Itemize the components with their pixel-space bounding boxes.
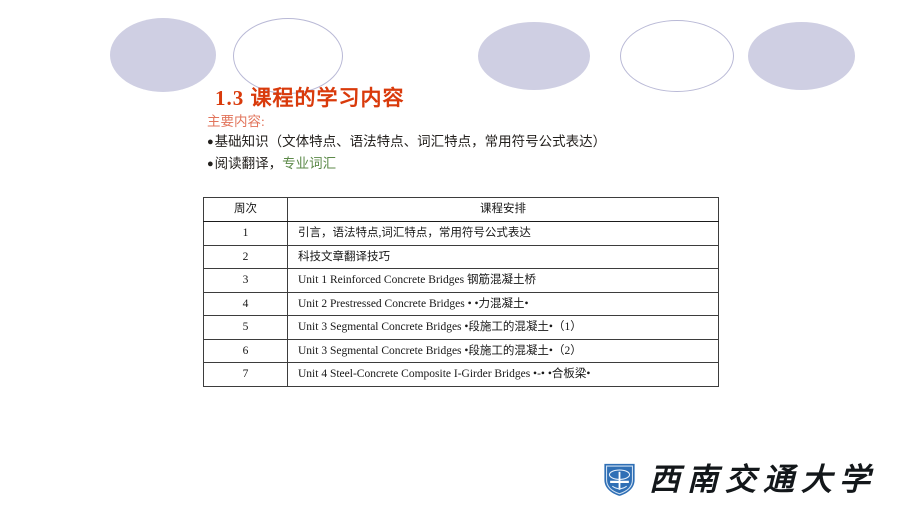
table-header-row: 周次 课程安排 (204, 198, 719, 222)
table-row: 3Unit 1 Reinforced Concrete Bridges 钢筋混凝… (204, 269, 719, 293)
cell-week: 5 (204, 316, 288, 340)
table-row: 4Unit 2 Prestressed Concrete Bridges • •… (204, 292, 719, 316)
decor-ellipse-1 (110, 18, 216, 92)
table-row: 2科技文章翻译技巧 (204, 245, 719, 269)
intro-block: 主要内容: ●基础知识（文体特点、语法特点、词汇特点，常用符号公式表达） ●阅读… (207, 113, 727, 175)
footer-logo: 西南交通大学 (601, 461, 877, 497)
intro-lead-label: 主要内容: (207, 113, 727, 131)
cell-plan: Unit 3 Segmental Concrete Bridges •段施工的混… (288, 316, 719, 340)
intro-bullet-1-text: 基础知识（文体特点、语法特点、词汇特点，常用符号公式表达） (215, 134, 607, 149)
intro-bullet-item-1: ●基础知识（文体特点、语法特点、词汇特点，常用符号公式表达） (207, 131, 727, 153)
decor-ellipse-4 (620, 20, 734, 92)
intro-bullet-2-accent: 专业词汇 (282, 156, 336, 171)
decor-ellipse-3 (478, 22, 590, 90)
cell-week: 6 (204, 339, 288, 363)
cell-week: 3 (204, 269, 288, 293)
decor-ellipse-5 (748, 22, 855, 90)
cell-plan: Unit 1 Reinforced Concrete Bridges 钢筋混凝土… (288, 269, 719, 293)
cell-plan: Unit 4 Steel-Concrete Composite I-Girder… (288, 363, 719, 387)
university-wordmark: 西南交通大学 (649, 464, 877, 495)
column-header-plan: 课程安排 (288, 198, 719, 222)
intro-bullet-2-text: 阅读翻译， (215, 156, 283, 171)
table-row: 7Unit 4 Steel-Concrete Composite I-Girde… (204, 363, 719, 387)
course-schedule-table: 周次 课程安排 1引言，语法特点,词汇特点，常用符号公式表达2科技文章翻译技巧3… (203, 197, 719, 387)
cell-plan: 科技文章翻译技巧 (288, 245, 719, 269)
cell-plan: Unit 3 Segmental Concrete Bridges •段施工的混… (288, 339, 719, 363)
bullet-dot-icon: ● (207, 136, 214, 148)
cell-plan: Unit 2 Prestressed Concrete Bridges • •力… (288, 292, 719, 316)
university-shield-icon (601, 461, 638, 497)
cell-week: 7 (204, 363, 288, 387)
table-row: 6Unit 3 Segmental Concrete Bridges •段施工的… (204, 339, 719, 363)
column-header-week: 周次 (204, 198, 288, 222)
cell-week: 1 (204, 222, 288, 246)
slide-canvas: 1.3 课程的学习内容 主要内容: ●基础知识（文体特点、语法特点、词汇特点，常… (0, 0, 900, 506)
table-row: 5Unit 3 Segmental Concrete Bridges •段施工的… (204, 316, 719, 340)
table-body: 1引言，语法特点,词汇特点，常用符号公式表达2科技文章翻译技巧3Unit 1 R… (204, 222, 719, 387)
intro-bullet-item-2: ●阅读翻译，专业词汇 (207, 153, 727, 175)
cell-week: 2 (204, 245, 288, 269)
slide-title: 1.3 课程的学习内容 (215, 82, 405, 112)
cell-plan: 引言，语法特点,词汇特点，常用符号公式表达 (288, 222, 719, 246)
bullet-dot-icon: ● (207, 158, 214, 170)
cell-week: 4 (204, 292, 288, 316)
table-row: 1引言，语法特点,词汇特点，常用符号公式表达 (204, 222, 719, 246)
